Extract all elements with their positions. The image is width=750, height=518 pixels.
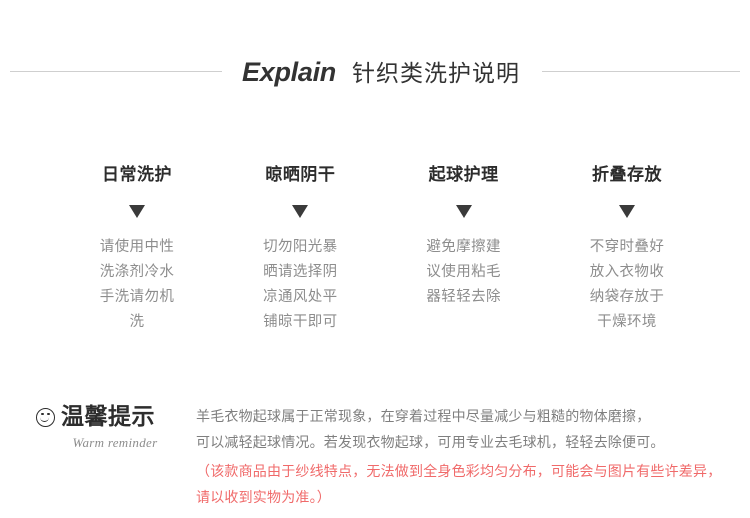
care-column-line: 器轻轻去除 (389, 285, 539, 310)
header-rule-right (542, 71, 740, 72)
care-columns: 日常洗护 请使用中性 洗涤剂冷水 手洗请勿机 洗 晾晒阴干 切勿阳光暴 晒请选择… (62, 165, 702, 335)
care-column-air-dry: 晾晒阴干 切勿阳光暴 晒请选择阴 凉通风处平 铺晾干即可 (225, 165, 375, 335)
page-title-en: Explain (242, 57, 336, 88)
triangle-down-icon (389, 196, 539, 226)
warm-reminder-note-line: 请以收到实物为准。） (196, 485, 726, 511)
page-title-cn: 针织类洗护说明 (352, 54, 520, 88)
triangle-down-icon (62, 196, 212, 226)
warm-reminder-title-en: Warm reminder (36, 435, 194, 451)
triangle-down-icon (225, 196, 375, 226)
care-column-line: 议使用粘毛 (389, 260, 539, 285)
page-header: Explain 针织类洗护说明 (0, 48, 750, 94)
warm-reminder-text: 羊毛衣物起球属于正常现象，在穿着过程中尽量减少与粗糙的物体磨擦， 可以减轻起球情… (194, 402, 726, 511)
care-column-line: 请使用中性 (62, 235, 212, 260)
care-column-line: 切勿阳光暴 (225, 235, 375, 260)
care-column-line: 纳袋存放于 (552, 285, 702, 310)
care-column-title: 起球护理 (389, 165, 539, 185)
header-rule-left (10, 71, 222, 72)
triangle-down-icon (552, 196, 702, 226)
care-column-daily-wash: 日常洗护 请使用中性 洗涤剂冷水 手洗请勿机 洗 (62, 165, 212, 335)
care-column-body: 不穿时叠好 放入衣物收 纳袋存放于 干燥环境 (552, 235, 702, 335)
care-column-title: 晾晒阴干 (225, 165, 375, 185)
care-column-title: 折叠存放 (552, 165, 702, 185)
warm-reminder-note-line: （该款商品由于纱线特点，无法做到全身色彩均匀分布，可能会与图片有些许差异， (196, 459, 726, 485)
warm-reminder-label: 温馨提示 Warm reminder (36, 402, 194, 451)
warm-reminder-section: 温馨提示 Warm reminder 羊毛衣物起球属于正常现象，在穿着过程中尽量… (36, 402, 726, 511)
care-column-folded-storage: 折叠存放 不穿时叠好 放入衣物收 纳袋存放于 干燥环境 (552, 165, 702, 335)
smiley-face-icon (36, 408, 55, 427)
care-column-title: 日常洗护 (62, 165, 212, 185)
warm-reminder-title-cn: 温馨提示 (61, 404, 155, 430)
care-instructions-page: Explain 针织类洗护说明 日常洗护 请使用中性 洗涤剂冷水 手洗请勿机 洗… (0, 0, 750, 518)
page-title: Explain 针织类洗护说明 (242, 54, 520, 88)
care-column-line: 洗涤剂冷水 (62, 260, 212, 285)
care-column-line: 放入衣物收 (552, 260, 702, 285)
care-column-line: 不穿时叠好 (552, 235, 702, 260)
warm-reminder-body-line: 羊毛衣物起球属于正常现象，在穿着过程中尽量减少与粗糙的物体磨擦， (196, 404, 726, 430)
care-column-line: 晒请选择阴 (225, 260, 375, 285)
care-column-line: 干燥环境 (552, 310, 702, 335)
care-column-line: 避免摩擦建 (389, 235, 539, 260)
warm-reminder-body-line: 可以减轻起球情况。若发现衣物起球，可用专业去毛球机，轻轻去除便可。 (196, 430, 726, 456)
care-column-line: 手洗请勿机 (62, 285, 212, 310)
care-column-line: 洗 (62, 310, 212, 335)
care-column-body: 切勿阳光暴 晒请选择阴 凉通风处平 铺晾干即可 (225, 235, 375, 335)
care-column-pilling-care: 起球护理 避免摩擦建 议使用粘毛 器轻轻去除 (389, 165, 539, 335)
care-column-line: 凉通风处平 (225, 285, 375, 310)
care-column-line: 铺晾干即可 (225, 310, 375, 335)
warm-reminder-heading: 温馨提示 (36, 404, 194, 430)
care-column-body: 请使用中性 洗涤剂冷水 手洗请勿机 洗 (62, 235, 212, 335)
care-column-body: 避免摩擦建 议使用粘毛 器轻轻去除 (389, 235, 539, 310)
